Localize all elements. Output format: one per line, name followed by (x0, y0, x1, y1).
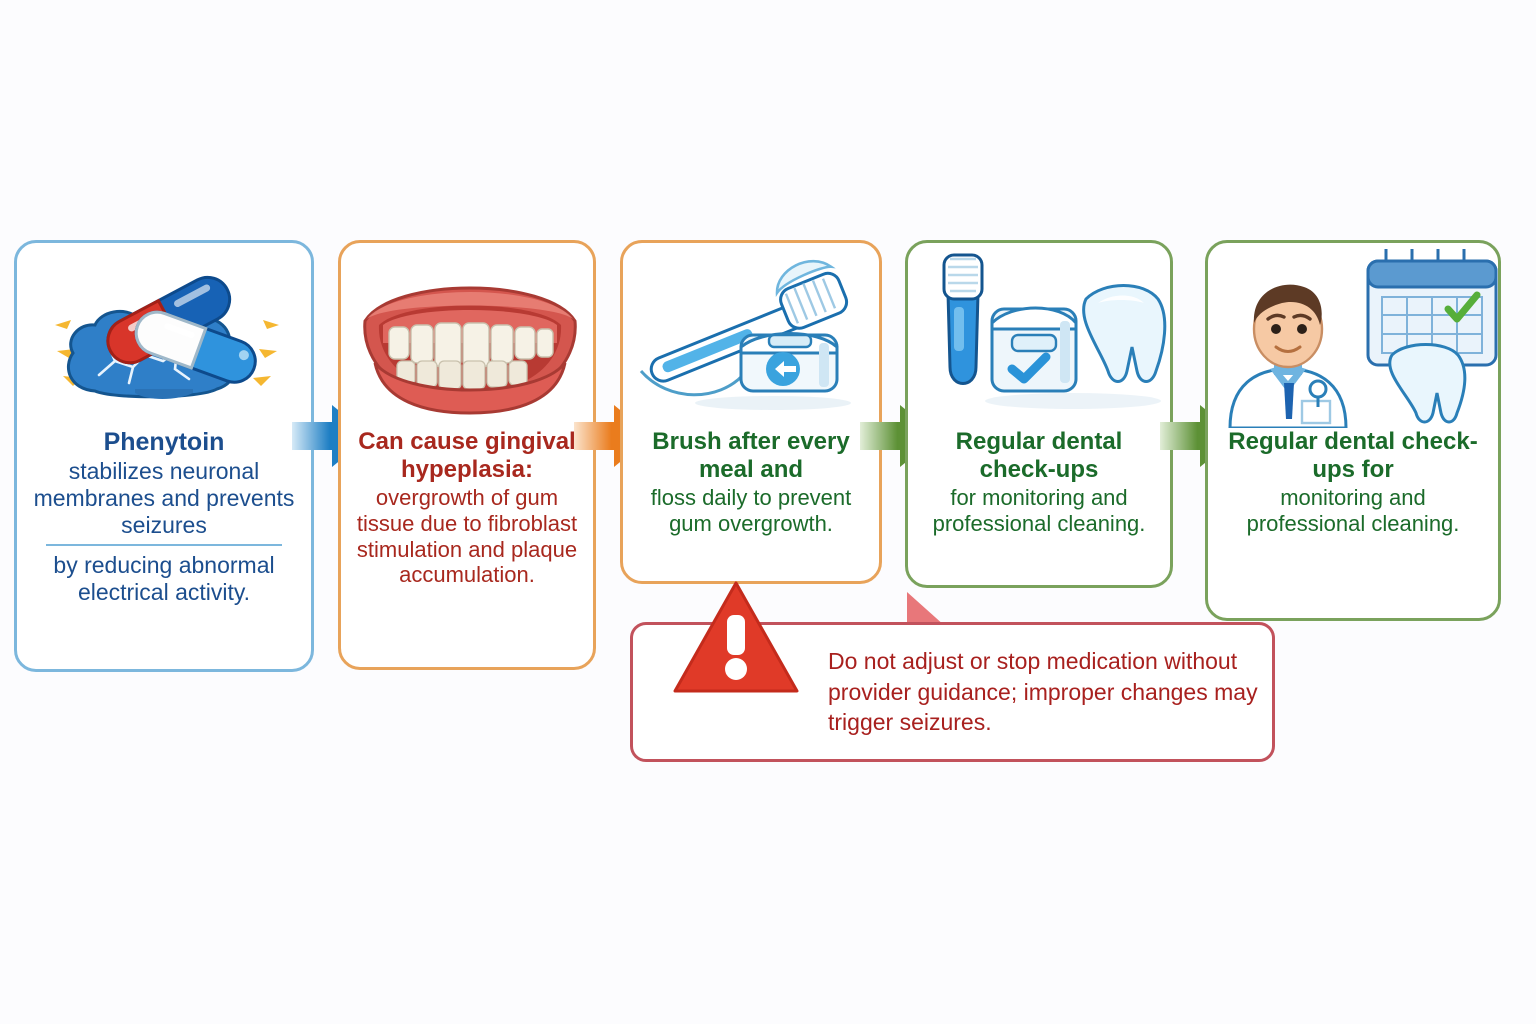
warning-callout-pointer-icon (907, 592, 945, 626)
flow-step-card-3-text: Brush after every meal and floss daily t… (623, 428, 879, 545)
arrow-shaft (860, 422, 904, 450)
infographic-canvas: Phenytoin stabilizes neuronal membranes … (0, 0, 1536, 1024)
flow-step-card-3-body: floss daily to prevent gum overgrowth. (633, 485, 869, 537)
flow-step-card-4[interactable]: Regular dental check-ups for monitoring … (905, 240, 1173, 588)
flow-step-card-1-divider (46, 544, 282, 546)
flow-step-card-4-text: Regular dental check-ups for monitoring … (908, 428, 1170, 545)
arrow-shaft (292, 422, 336, 450)
arrow-shaft (1160, 422, 1204, 450)
flow-step-card-2-text: Can cause gingival hypeplasia: overgrowt… (341, 428, 593, 596)
flow-step-card-1-text: Phenytoin stabilizes neuronal membranes … (17, 428, 311, 614)
flow-step-card-1-lead: Phenytoin (27, 428, 301, 458)
flow-step-card-2[interactable]: Can cause gingival hypeplasia: overgrowt… (338, 240, 596, 670)
dentist-calendar-tooth-icon (1208, 243, 1498, 428)
flow-step-card-5-text: Regular dental check-ups for monitoring … (1208, 428, 1498, 545)
flow-step-card-1-body: stabilizes neuronal membranes and preven… (27, 458, 301, 539)
toothbrush-floss-tooth-icon (908, 243, 1170, 428)
flow-step-card-2-body: overgrowth of gum tissue due to fibrobla… (351, 485, 583, 589)
warning-triangle-exclamation-icon (671, 579, 801, 697)
flow-step-card-4-lead: Regular dental check-ups (918, 428, 1160, 485)
flow-step-card-3-lead: Brush after every meal and (633, 428, 869, 485)
flow-step-card-5[interactable]: Regular dental check-ups for monitoring … (1205, 240, 1501, 621)
warning-callout[interactable]: Do not adjust or stop medication without… (630, 622, 1275, 762)
flow-step-card-1[interactable]: Phenytoin stabilizes neuronal membranes … (14, 240, 314, 672)
toothbrush-and-floss-icon (623, 243, 879, 428)
mouth-teeth-gums-icon (341, 243, 593, 428)
flow-step-card-5-body: monitoring and professional cleaning. (1218, 485, 1488, 537)
arrow-shaft (574, 422, 618, 450)
flow-step-card-4-body: for monitoring and professional cleaning… (918, 485, 1160, 537)
pills-and-brain-icon (17, 243, 311, 428)
flow-step-card-5-lead: Regular dental check-ups for (1218, 428, 1488, 485)
flow-step-card-3[interactable]: Brush after every meal and floss daily t… (620, 240, 882, 584)
flow-step-card-1-footer: by reducing abnormal electrical activity… (27, 552, 301, 606)
flow-step-card-2-lead: Can cause gingival hypeplasia: (351, 428, 583, 485)
